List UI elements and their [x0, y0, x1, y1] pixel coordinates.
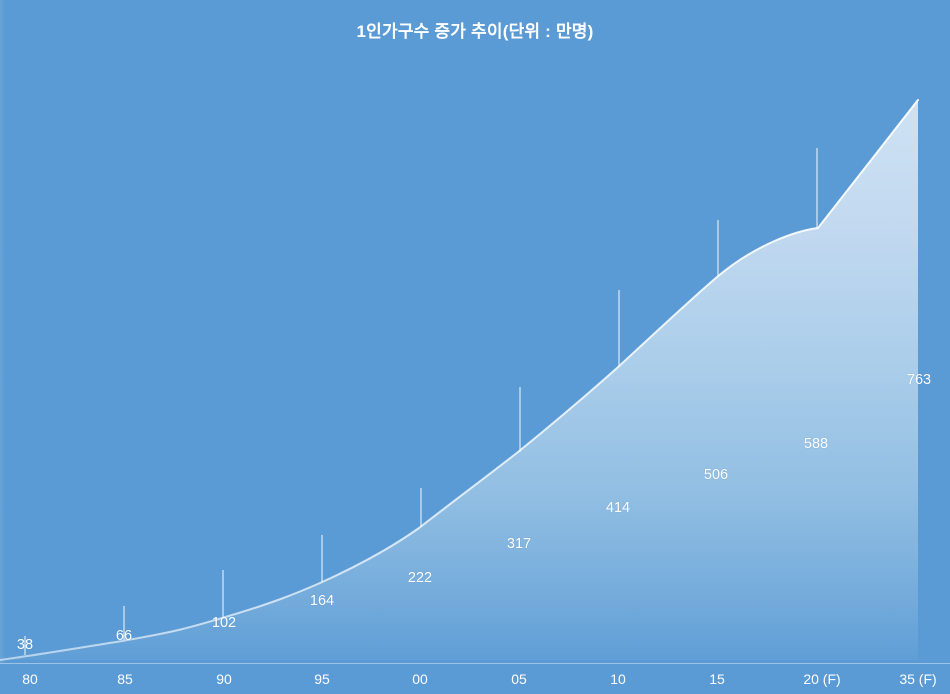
value-label-2020: 588: [804, 436, 828, 452]
value-label-2010: 414: [606, 500, 630, 516]
area-fill: [0, 100, 918, 660]
value-label-2000: 222: [408, 570, 432, 586]
chart-container: 1인가구수 증가 추이(단위 : 만명): [0, 0, 950, 694]
x-axis-tick-85: 85: [117, 671, 133, 687]
value-label-2015: 506: [704, 467, 728, 483]
value-label-1980: 38: [17, 637, 33, 653]
x-axis-tick-00: 00: [412, 671, 428, 687]
area-chart-plot: [0, 0, 950, 694]
value-label-1995: 164: [310, 593, 334, 609]
value-label-1990: 102: [212, 615, 236, 631]
value-label-1985: 66: [116, 628, 132, 644]
x-axis-tick-10: 10: [610, 671, 626, 687]
value-label-2035: 763: [907, 372, 931, 388]
value-label-2005: 317: [507, 536, 531, 552]
x-axis-tick-35f: 35 (F): [899, 671, 936, 687]
x-axis-tick-20f: 20 (F): [803, 671, 840, 687]
x-axis-tick-95: 95: [314, 671, 330, 687]
x-axis-tick-05: 05: [511, 671, 527, 687]
x-axis-tick-90: 90: [216, 671, 232, 687]
x-axis-tick-80: 80: [22, 671, 38, 687]
x-axis-tick-15: 15: [709, 671, 725, 687]
